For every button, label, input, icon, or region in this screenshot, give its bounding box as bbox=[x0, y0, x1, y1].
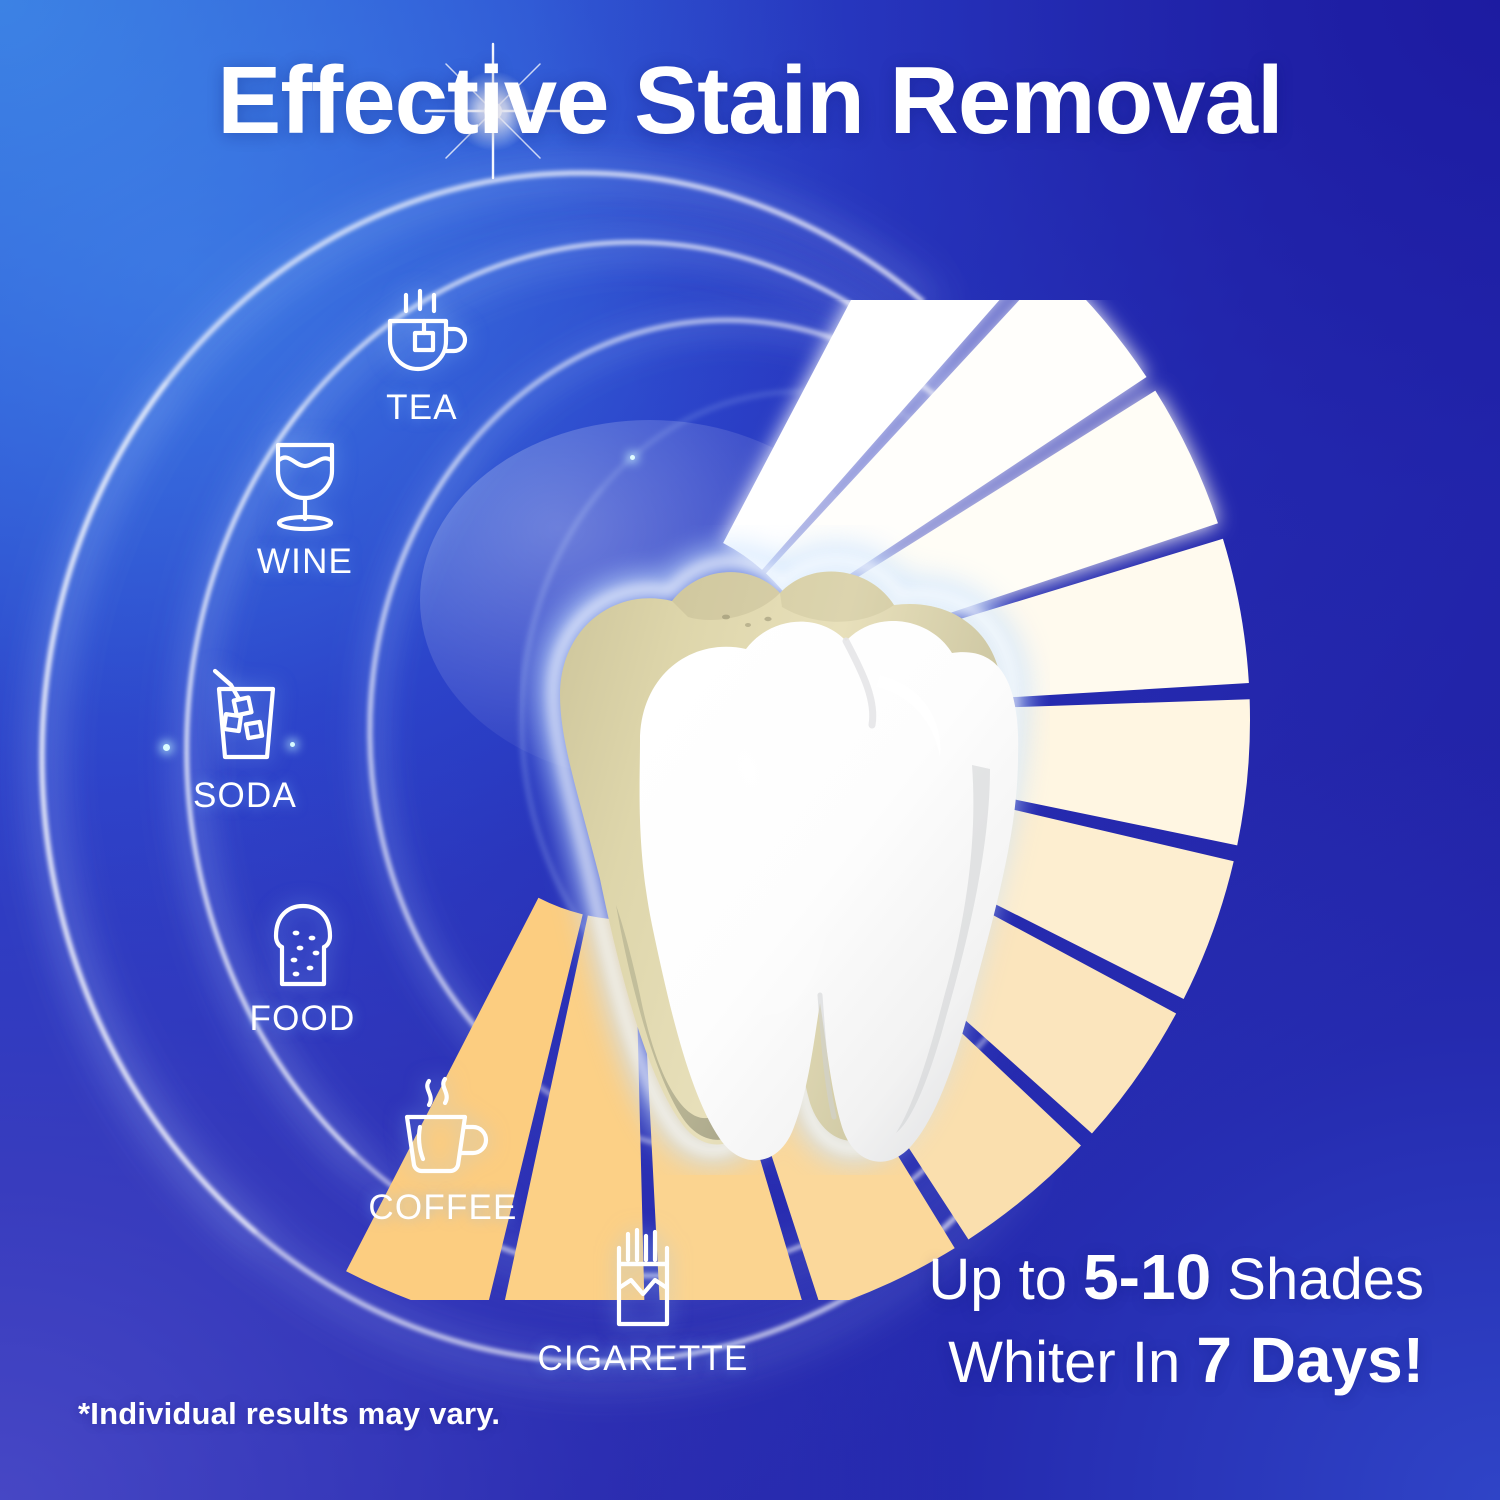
claim-shade-count: 5-10 bbox=[1083, 1241, 1211, 1313]
claim-day-count: 7 Days! bbox=[1196, 1324, 1424, 1396]
disclaimer-text: *Individual results may vary. bbox=[78, 1396, 500, 1432]
shade-claim: Up to 5-10 Shades Whiter In 7 Days! bbox=[928, 1236, 1424, 1402]
soda-glass-icon bbox=[197, 665, 293, 769]
wine-glass-icon bbox=[259, 435, 351, 535]
cigarette-pack-icon bbox=[597, 1228, 689, 1332]
teacup-icon bbox=[374, 285, 470, 381]
claim-line-2-pre: Whiter In bbox=[948, 1330, 1196, 1395]
stain-label-coffee: COFFEE bbox=[368, 1188, 517, 1228]
stain-label-tea: TEA bbox=[386, 388, 458, 428]
stain-label-wine: WINE bbox=[257, 542, 353, 582]
page-title: Effective Stain Removal bbox=[0, 52, 1500, 150]
claim-line-1: Up to 5-10 Shades bbox=[928, 1236, 1424, 1319]
stain-item-food: FOOD bbox=[205, 900, 400, 1039]
stain-label-soda: SODA bbox=[193, 776, 297, 816]
stain-item-soda: SODA bbox=[150, 665, 340, 816]
stain-label-food: FOOD bbox=[250, 999, 356, 1039]
stain-item-coffee: COFFEE bbox=[343, 1075, 543, 1228]
coffee-cup-icon bbox=[393, 1075, 493, 1181]
claim-line-2: Whiter In 7 Days! bbox=[928, 1319, 1424, 1402]
stain-item-wine: WINE bbox=[215, 435, 395, 582]
stain-item-tea: TEA bbox=[332, 285, 512, 428]
stain-item-cigarette: CIGARETTE bbox=[528, 1228, 758, 1379]
claim-line-1-post: Shades bbox=[1211, 1247, 1424, 1312]
stain-label-cigarette: CIGARETTE bbox=[537, 1339, 748, 1379]
bread-slice-icon bbox=[256, 900, 350, 992]
poster-canvas: Effective Stain Removal TEA bbox=[0, 0, 1500, 1500]
claim-line-1-pre: Up to bbox=[928, 1247, 1083, 1312]
